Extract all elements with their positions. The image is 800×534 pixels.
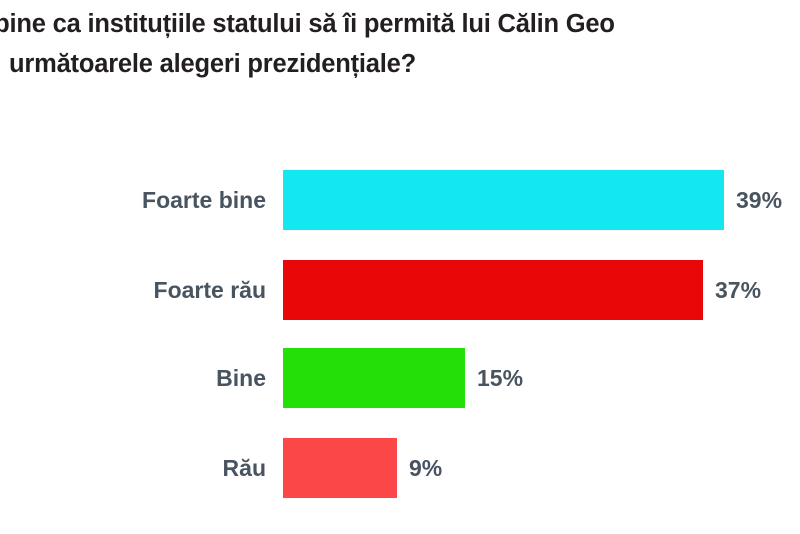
bar-track: 9% bbox=[283, 438, 442, 498]
bar-track: 15% bbox=[283, 348, 523, 408]
value-label-bine: 15% bbox=[477, 348, 523, 408]
value-label-foarte-bine: 39% bbox=[736, 170, 782, 230]
bar-foarte-rau bbox=[283, 260, 703, 320]
category-label-bine: Bine bbox=[6, 348, 266, 408]
value-label-rau: 9% bbox=[409, 438, 442, 498]
bar-foarte-bine bbox=[283, 170, 724, 230]
bar-track: 39% bbox=[283, 170, 782, 230]
bar-track: 37% bbox=[283, 260, 761, 320]
bar-bine bbox=[283, 348, 465, 408]
chart-title: te bine ca instituțiile statului să îi p… bbox=[0, 4, 800, 84]
category-label-foarte-bine: Foarte bine bbox=[6, 170, 266, 230]
chart-title-line-2: următoarele alegeri prezidențiale? bbox=[0, 44, 800, 84]
bar-chart-plot-area: Foarte bine 39% Foarte rău 37% Bine 15% … bbox=[0, 150, 800, 534]
value-label-foarte-rau: 37% bbox=[715, 260, 761, 320]
bar-row: Foarte bine 39% bbox=[0, 170, 800, 230]
bar-row: Rău 9% bbox=[0, 438, 800, 498]
category-label-rau: Rău bbox=[6, 438, 266, 498]
chart-title-line-1: te bine ca instituțiile statului să îi p… bbox=[0, 4, 800, 44]
bar-rau bbox=[283, 438, 397, 498]
category-label-foarte-rau: Foarte rău bbox=[6, 260, 266, 320]
bar-row: Foarte rău 37% bbox=[0, 260, 800, 320]
bar-row: Bine 15% bbox=[0, 348, 800, 408]
